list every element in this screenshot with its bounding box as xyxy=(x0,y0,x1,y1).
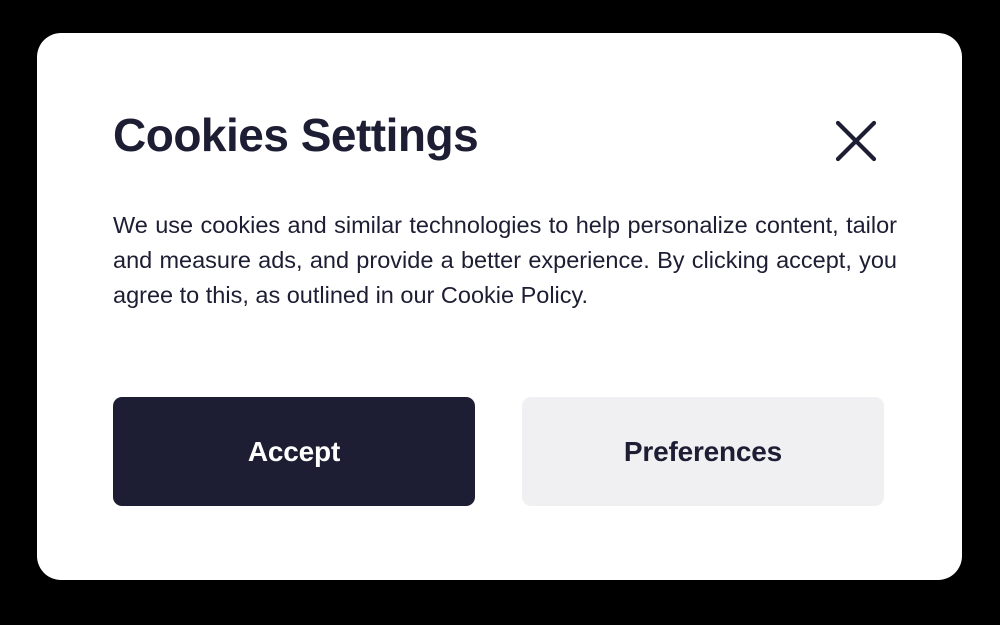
page-title: Cookies Settings xyxy=(113,107,478,163)
dialog-header: Cookies Settings xyxy=(113,107,922,169)
close-button[interactable] xyxy=(828,113,884,169)
close-icon xyxy=(834,119,878,163)
accept-button[interactable]: Accept xyxy=(113,397,475,506)
cookies-settings-dialog: Cookies Settings We use cookies and simi… xyxy=(37,33,962,580)
dialog-actions: Accept Preferences xyxy=(113,397,884,506)
dialog-description: We use cookies and similar technologies … xyxy=(113,208,897,313)
preferences-button[interactable]: Preferences xyxy=(522,397,884,506)
dialog-description-text: We use cookies and similar technologies … xyxy=(113,208,897,313)
screen-background: Cookies Settings We use cookies and simi… xyxy=(0,0,1000,625)
